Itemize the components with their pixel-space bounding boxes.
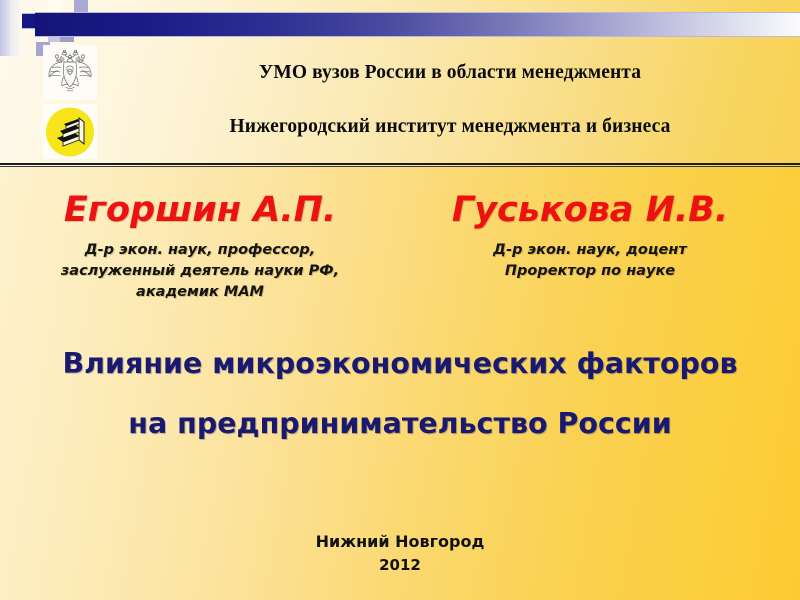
slide-header: УМО вузов России в области менеджмента Н…: [0, 0, 800, 166]
author-name: Егоршин А.П.: [10, 192, 390, 229]
header-divider: [0, 163, 800, 167]
author-role-line: Д-р экон. наук, профессор,: [10, 240, 390, 261]
slide-footer: Нижний Новгород 2012: [0, 530, 800, 577]
organization-title: УМО вузов России в области менеджмента: [110, 62, 790, 84]
footer-year: 2012: [0, 554, 800, 577]
russian-federation-coat-of-arms-icon: [43, 45, 97, 100]
header-gradient-bar: [35, 12, 800, 37]
divider-rule-thin: [0, 166, 800, 167]
presentation-title-line: Влияние микроэкономических факторов: [20, 334, 780, 394]
presentation-slide: УМО вузов России в области менеджмента Н…: [0, 0, 800, 600]
footer-city: Нижний Новгород: [0, 530, 800, 554]
divider-rule-thick: [0, 163, 800, 165]
author-role-line: Д-р экон. наук, доцент: [400, 240, 780, 261]
author-block-left: Егоршин А.П. Д-р экон. наук, профессор, …: [10, 192, 390, 303]
author-role: Д-р экон. наук, профессор, заслуженный д…: [10, 240, 390, 303]
institute-title: Нижегородский институт менеджмента и биз…: [110, 116, 790, 138]
presentation-title-line: на предпринимательство России: [20, 394, 780, 454]
author-role-line: академик МАМ: [10, 282, 390, 303]
author-role-line: заслуженный деятель науки РФ,: [10, 261, 390, 282]
author-role-line: Проректор по науке: [400, 261, 780, 282]
author-name: Гуськова И.В.: [400, 192, 780, 229]
decor-square: [0, 0, 10, 56]
author-role: Д-р экон. наук, доцент Проректор по наук…: [400, 240, 780, 282]
presentation-title: Влияние микроэкономических факторов на п…: [20, 334, 780, 454]
decor-square: [22, 14, 36, 28]
nimb-logo-icon: [43, 104, 97, 159]
author-block-right: Гуськова И.В. Д-р экон. наук, доцент Про…: [400, 192, 780, 282]
